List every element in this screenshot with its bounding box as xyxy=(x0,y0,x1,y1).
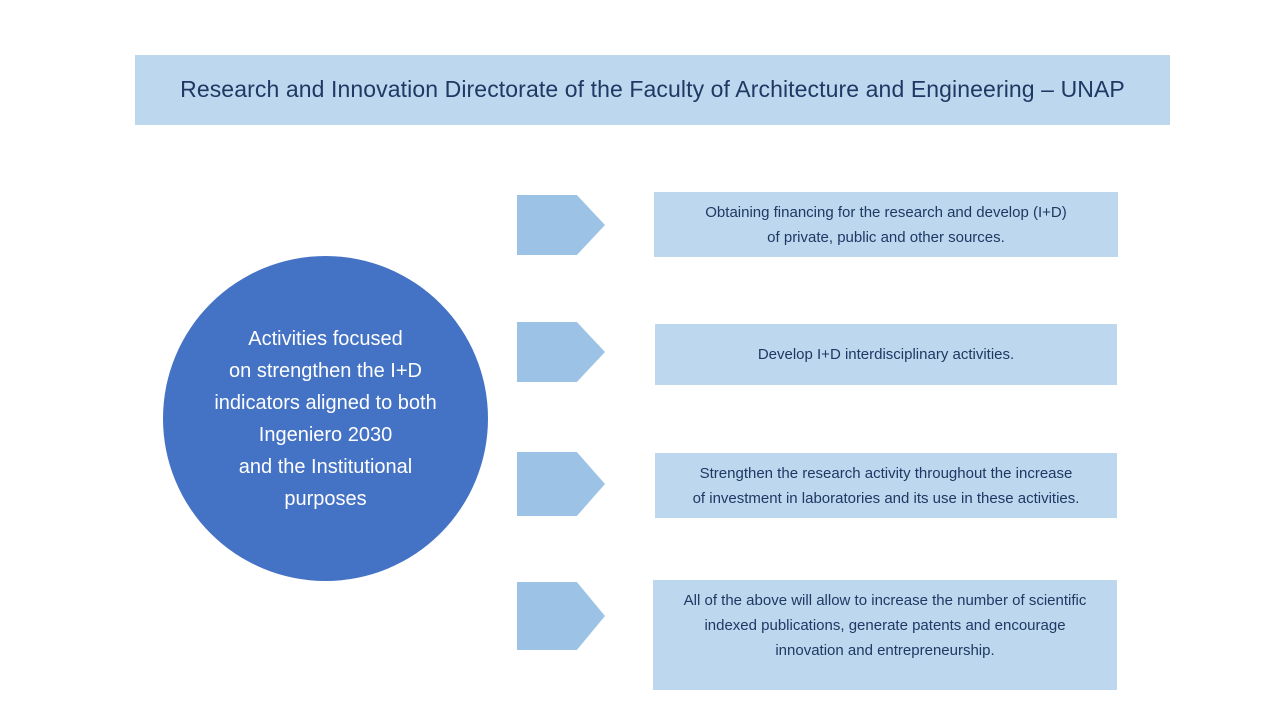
hub-circle: Activities focused on strengthen the I+D… xyxy=(163,256,488,581)
flow-item-box: Develop I+D interdisciplinary activities… xyxy=(655,324,1117,385)
hub-circle-label: Activities focused on strengthen the I+D… xyxy=(181,323,471,515)
right-arrow-pentagon-icon xyxy=(517,195,605,255)
flow-item-label: Develop I+D interdisciplinary activities… xyxy=(661,342,1111,367)
right-arrow-pentagon-icon xyxy=(517,322,605,382)
flow-item-box: Obtaining financing for the research and… xyxy=(654,192,1118,257)
flow-item-label: Obtaining financing for the research and… xyxy=(660,200,1112,250)
page-title: Research and Innovation Directorate of t… xyxy=(180,76,1125,104)
flow-item-label: All of the above will allow to increase … xyxy=(659,588,1111,663)
slide-canvas: Research and Innovation Directorate of t… xyxy=(0,0,1280,720)
right-arrow-pentagon-icon xyxy=(517,582,605,650)
title-banner: Research and Innovation Directorate of t… xyxy=(135,55,1170,125)
flow-item-box: Strengthen the research activity through… xyxy=(655,453,1117,518)
right-arrow-pentagon-icon xyxy=(517,452,605,516)
flow-item-box: All of the above will allow to increase … xyxy=(653,580,1117,690)
flow-item-label: Strengthen the research activity through… xyxy=(661,461,1111,511)
